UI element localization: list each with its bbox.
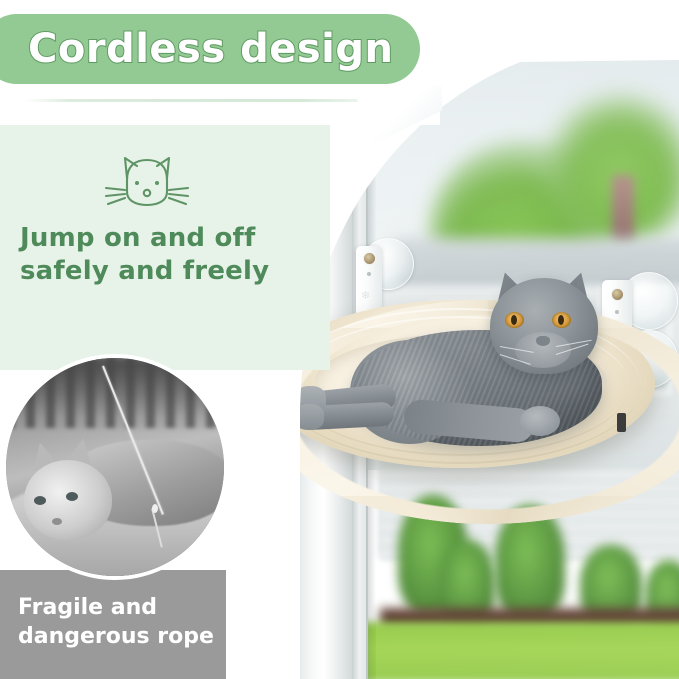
comparison-caption-line-1: Fragile and [18,594,228,623]
feature-headline: Jump on and off safely and freely [20,222,290,288]
feature-headline-line-1: Jump on and off [20,222,290,255]
brand-tag [617,413,626,432]
decorative-fold-line [24,99,414,102]
comparison-caption-line-2: dangerous rope [18,623,228,652]
product-infographic: ❄ ❄ [0,0,679,679]
comparison-caption: Fragile and dangerous rope [18,594,228,651]
paw-print-icon: ❄ [361,290,370,301]
comparison-cat-eye [34,496,46,505]
cat-paw [292,404,324,430]
cat-eye [505,312,524,328]
cat-nose [536,336,550,346]
indicator-dot-icon [367,272,371,276]
headline-title: Cordless design [28,16,408,82]
cat-eye [552,312,571,328]
cat-paw [520,406,560,436]
screw-icon [363,252,376,265]
comparison-cat-nose [52,518,62,525]
rope-knot [152,504,158,513]
indicator-dot-icon [615,310,619,314]
comparison-cat-eye [66,492,78,501]
cat-face-icon [104,148,190,218]
photo-vignette [6,358,224,416]
feature-headline-line-2: safely and freely [20,255,290,288]
comparison-photo [6,358,224,576]
screw-icon [611,288,624,301]
